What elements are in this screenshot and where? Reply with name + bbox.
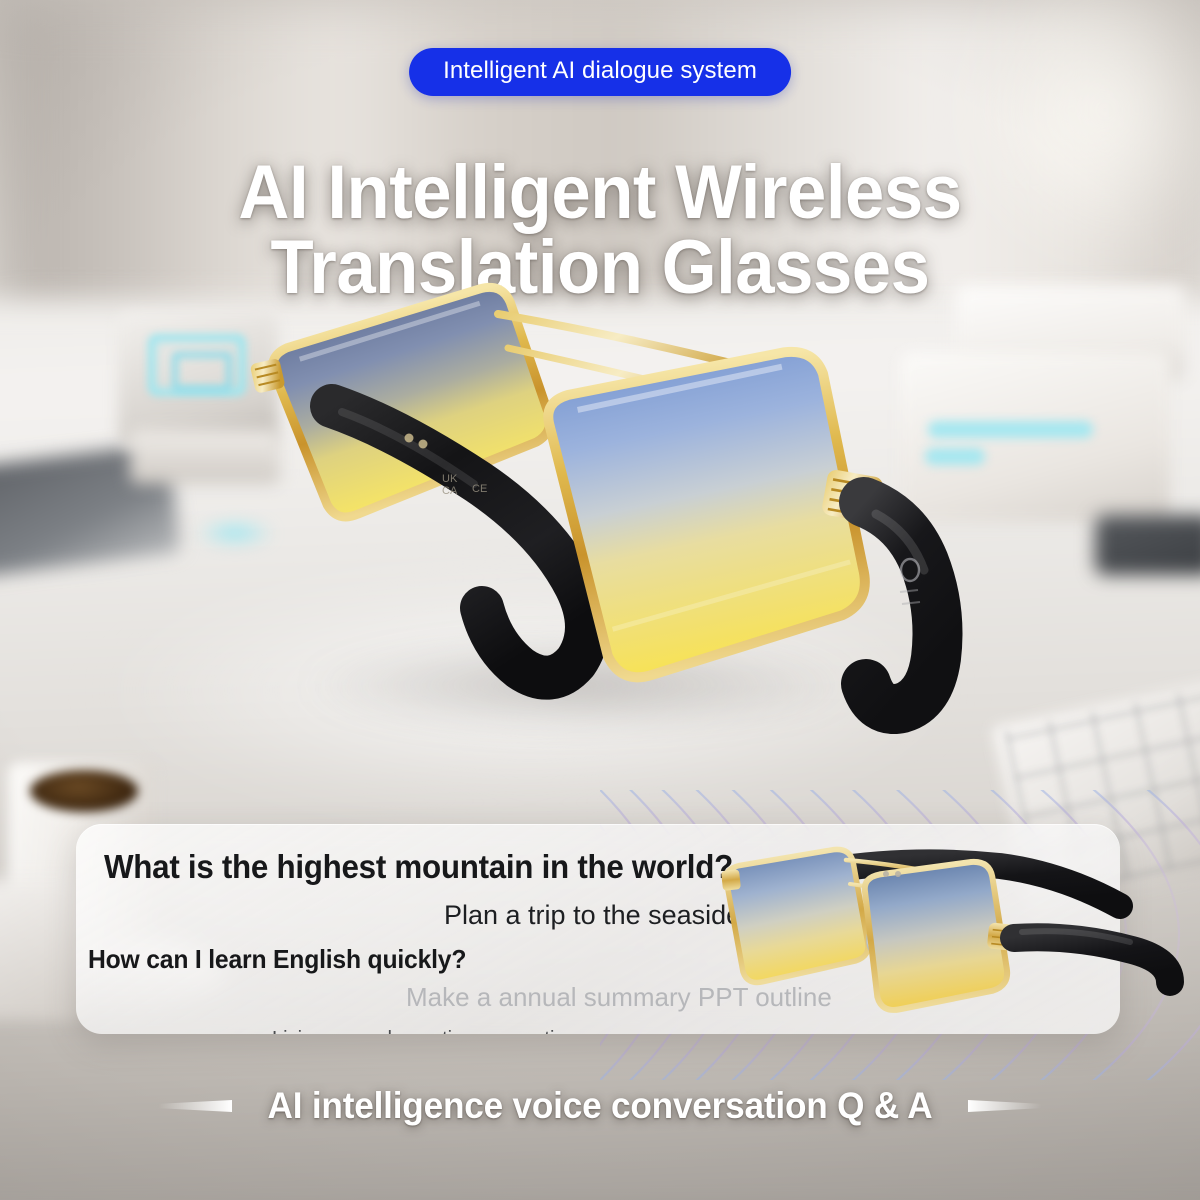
footer-banner: AI intelligence voice conversation Q & A xyxy=(0,1078,1200,1134)
qa-suggestion-2[interactable]: Plan a trip to the seaside xyxy=(444,900,741,931)
qa-suggestion-5[interactable]: Living room decoration suggestions xyxy=(272,1028,587,1034)
product-poster: Intelligent AI dialogue system AI Intell… xyxy=(0,0,1200,1200)
page-title: AI Intelligent Wireless Translation Glas… xyxy=(42,155,1158,305)
hero-product-glasses: UKCACE xyxy=(246,286,958,726)
qa-suggestion-3[interactable]: How can I learn English quickly? xyxy=(88,944,466,975)
badge-intelligent-ai-dialogue-system: Intelligent AI dialogue system xyxy=(409,48,791,96)
footer-rule-left-icon xyxy=(158,1100,232,1112)
qa-suggestion-1[interactable]: What is the highest mountain in the worl… xyxy=(104,848,733,886)
svg-text:CE: CE xyxy=(472,483,487,495)
secondary-product-glasses xyxy=(700,832,1170,1032)
footer-rule-right-icon xyxy=(968,1100,1042,1112)
svg-text:CA: CA xyxy=(442,485,458,497)
svg-text:UK: UK xyxy=(442,473,458,485)
footer-text: AI intelligence voice conversation Q & A xyxy=(268,1085,933,1127)
